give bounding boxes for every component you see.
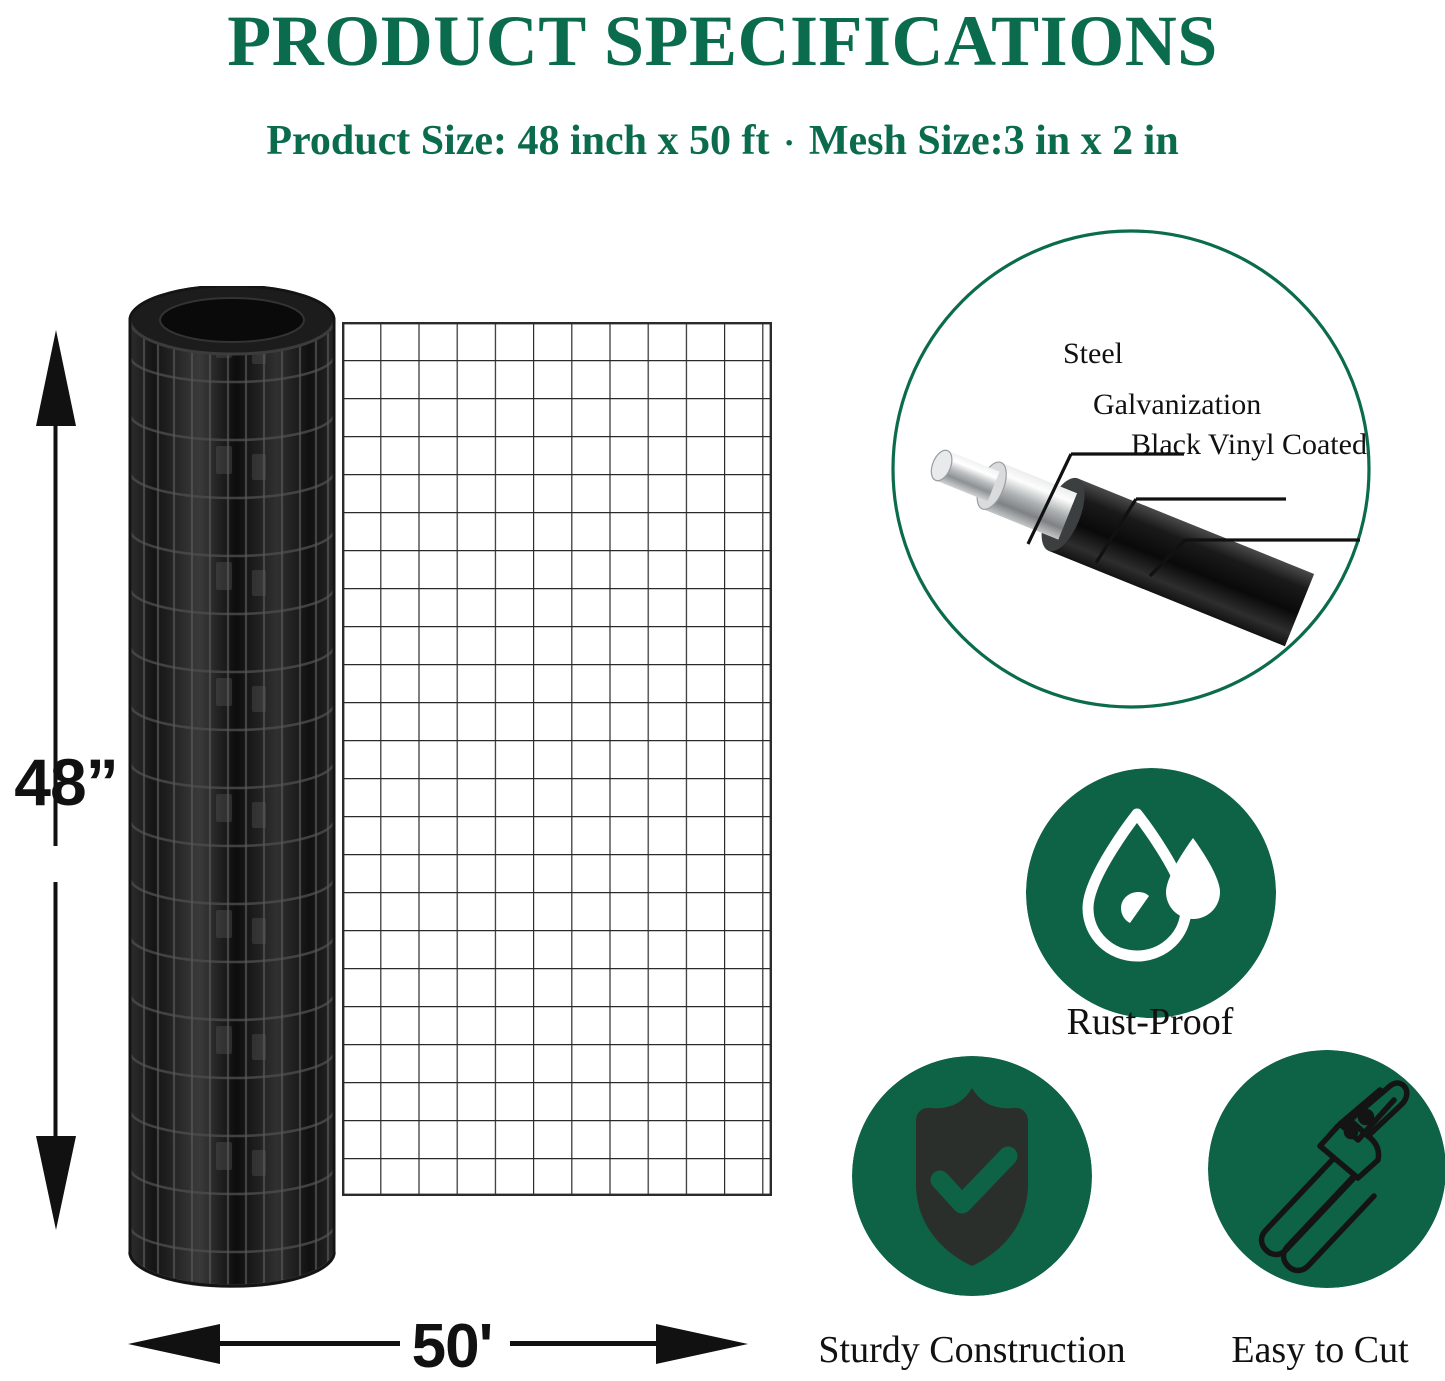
wire-construction-detail xyxy=(888,228,1374,710)
mesh-size-text: Mesh Size:3 in x 2 in xyxy=(809,118,1179,164)
feature-label-easy-to-cut: Easy to Cut xyxy=(1190,1328,1445,1372)
feature-label-sturdy-construction: Sturdy Construction xyxy=(782,1328,1162,1372)
product-specification-infographic: PRODUCT SPECIFICATIONS Product Size: 48 … xyxy=(0,0,1445,1381)
mesh-panel-graphic xyxy=(342,322,772,1196)
detail-label-galvanization: Galvanization xyxy=(1093,388,1261,422)
feature-label-rust-proof: Rust-Proof xyxy=(1000,1000,1300,1044)
product-size-text: Product Size: 48 inch x 50 ft xyxy=(266,118,769,164)
height-dimension-label: 48” xyxy=(0,742,132,822)
spec-subtitle: Product Size: 48 inch x 50 ft·Mesh Size:… xyxy=(0,116,1445,169)
feature-badge-easy-to-cut xyxy=(1208,1050,1445,1288)
wire-mesh-roll-graphic xyxy=(124,286,340,1300)
feature-badge-sturdy-construction xyxy=(852,1056,1092,1296)
detail-label-vinyl: Black Vinyl Coated xyxy=(1131,428,1367,462)
width-dimension-label: 50' xyxy=(392,1316,512,1378)
spec-separator: · xyxy=(770,119,809,169)
feature-badge-rust-proof xyxy=(1026,768,1276,1018)
page-title: PRODUCT SPECIFICATIONS xyxy=(0,2,1445,80)
detail-label-steel: Steel xyxy=(1063,337,1123,371)
